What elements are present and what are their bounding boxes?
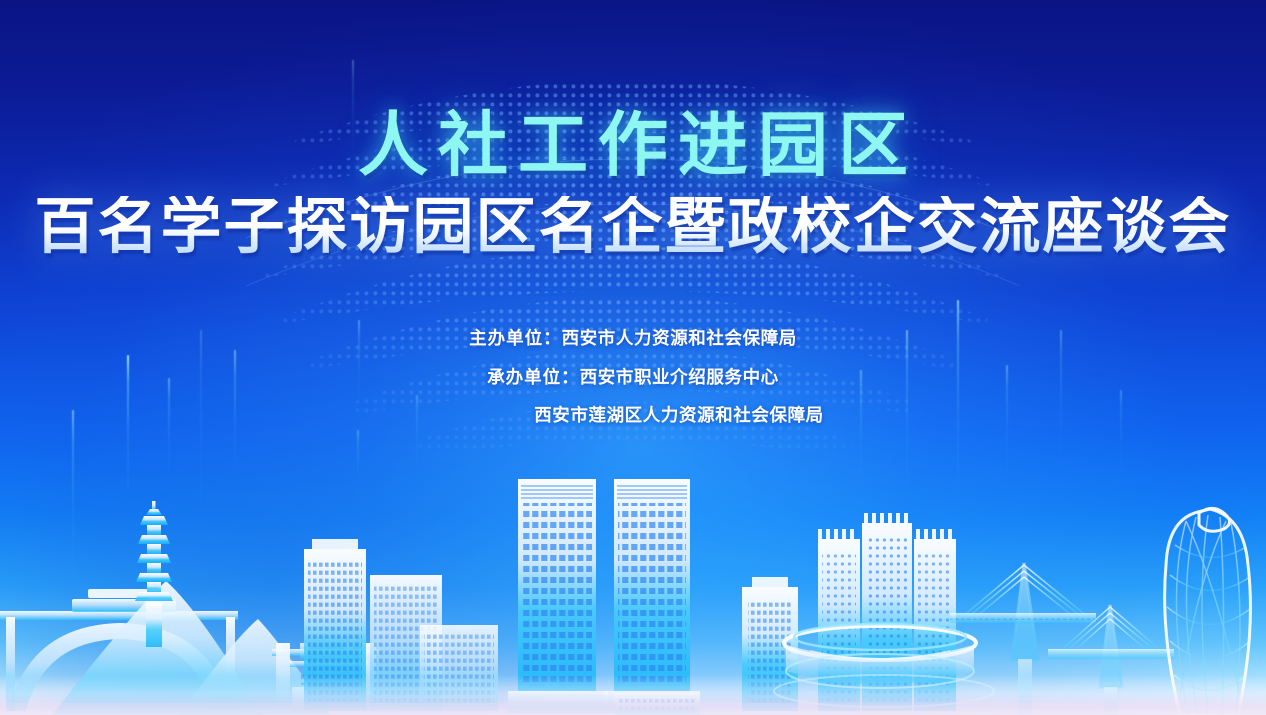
sub-title: 百名学子探访园区名企暨政校企交流座谈会 xyxy=(0,196,1266,257)
organizer-line-coorganizer-secondary: 西安市莲湖区人力资源和社会保障局 xyxy=(0,407,1266,425)
diagrid-lattice-tower xyxy=(1165,508,1251,715)
pagoda-tower xyxy=(135,501,173,647)
vertical-light-streak xyxy=(957,300,959,510)
vertical-light-streak xyxy=(357,430,359,500)
vertical-light-streak xyxy=(1060,330,1062,480)
vertical-light-streak xyxy=(72,410,74,585)
vertical-light-streak xyxy=(1120,390,1122,485)
organizer-value-coorganizer: 西安市职业介绍服务中心 xyxy=(580,367,779,387)
bottom-haze xyxy=(0,675,1266,715)
stadium-oval xyxy=(774,624,994,707)
organizer-block: 主办单位：西安市人力资源和社会保障局 承办单位：西安市职业介绍服务中心 西安市莲… xyxy=(0,330,1266,446)
vertical-light-streak xyxy=(416,395,418,480)
low-rise-block xyxy=(614,693,700,715)
government-building xyxy=(818,513,956,711)
office-block-left-b xyxy=(370,575,442,711)
main-title: 人社工作进园区 xyxy=(0,110,1266,180)
organizer-line-coorganizer: 承办单位：西安市职业介绍服务中心 xyxy=(0,369,1266,387)
vertical-light-streak xyxy=(860,370,862,500)
paifang-gate xyxy=(272,643,380,711)
vertical-light-streak xyxy=(1006,365,1008,485)
vertical-light-streak xyxy=(234,350,236,490)
vertical-light-streak xyxy=(358,320,360,415)
twin-tower-right xyxy=(604,479,700,713)
vertical-light-streak xyxy=(127,355,129,505)
organizer-label-host: 主办单位： xyxy=(469,328,562,348)
left-glow xyxy=(0,215,673,715)
low-rise-left xyxy=(420,625,498,711)
dotted-world-globe xyxy=(238,30,1028,500)
twin-tower-left xyxy=(508,479,608,713)
vertical-light-streak xyxy=(200,330,202,560)
mid-rise-tower xyxy=(742,577,798,711)
organizer-label-coorganizer: 承办单位： xyxy=(487,367,580,387)
mountain-small xyxy=(180,619,330,715)
vertical-light-streak xyxy=(168,378,170,488)
event-poster: 人社工作进园区 百名学子探访园区名企暨政校企交流座谈会 主办单位：西安市人力资源… xyxy=(0,0,1266,715)
arch-bridge xyxy=(0,589,238,711)
vertical-light-streak xyxy=(352,60,354,170)
organizer-value-host: 西安市人力资源和社会保障局 xyxy=(562,328,797,348)
title-block: 人社工作进园区 百名学子探访园区名企暨政校企交流座谈会 xyxy=(0,110,1266,257)
organizer-value-secondary: 西安市莲湖区人力资源和社会保障局 xyxy=(534,405,824,425)
mountain-large xyxy=(52,581,262,715)
center-glow xyxy=(0,0,1266,715)
crane-bridge-tower-a xyxy=(950,563,1096,715)
crane-bridge-tower-b xyxy=(1048,605,1174,715)
vertical-light-streak xyxy=(906,330,908,500)
city-skyline xyxy=(0,465,1266,715)
organizer-line-host: 主办单位：西安市人力资源和社会保障局 xyxy=(0,330,1266,348)
light-streaks xyxy=(0,0,1266,715)
office-block-left xyxy=(304,539,366,711)
